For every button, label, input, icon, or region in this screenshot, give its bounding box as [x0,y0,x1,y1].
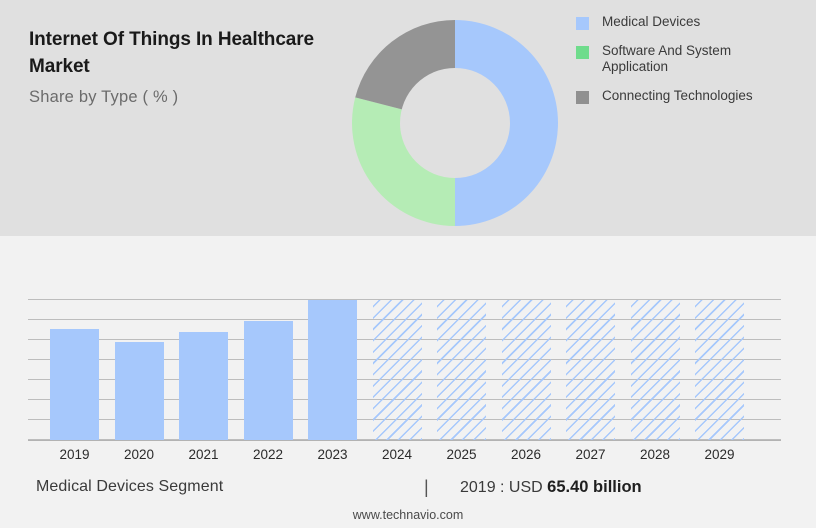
bar-2020[interactable] [115,342,164,440]
legend-item-medical-devices[interactable]: Medical Devices [576,14,806,30]
bar-2026[interactable] [502,300,551,440]
x-axis-label: 2027 [561,447,621,462]
legend-item-label: Connecting Technologies [602,88,753,104]
bar-2023[interactable] [308,300,357,440]
x-axis-label: 2022 [238,447,298,462]
legend-swatch-icon [576,46,589,59]
x-axis-label: 2023 [303,447,363,462]
footer-divider: | [424,477,429,498]
footer-segment-label: Medical Devices Segment [36,478,223,496]
bar-2029[interactable] [695,300,744,440]
header-panel: Internet Of Things In Healthcare Market … [0,0,816,236]
x-axis-label: 2021 [174,447,234,462]
page-subtitle: Share by Type ( % ) [29,88,178,107]
legend-item-software-and-system-application[interactable]: Software And System Application [576,43,806,75]
footer: Medical Devices Segment | 2019 : USD 65.… [0,472,816,528]
x-axis-label: 2020 [109,447,169,462]
page-title: Internet Of Things In Healthcare Market [29,26,369,80]
website-label: www.technavio.com [0,508,816,522]
footer-value-amount: 65.40 billion [547,478,641,496]
x-axis-label: 2028 [625,447,685,462]
x-axis-label: 2029 [690,447,750,462]
footer-value-prefix: 2019 : USD [460,479,543,496]
footer-value: 2019 : USD 65.40 billion [460,478,642,497]
bar-2025[interactable] [437,300,486,440]
bar-2022[interactable] [244,321,293,440]
x-axis-label: 2025 [432,447,492,462]
bar-chart: 2019202020212022202320242025202620272028… [0,236,816,468]
donut-chart-svg [352,20,558,226]
x-axis-label: 2026 [496,447,556,462]
bar-2021[interactable] [179,332,228,440]
x-axis-label: 2024 [367,447,427,462]
legend-item-label: Software And System Application [602,43,777,75]
donut-hole [400,68,510,178]
bar-2028[interactable] [631,300,680,440]
legend: Medical Devices Software And System Appl… [576,14,806,117]
bar-chart-plot: 2019202020212022202320242025202620272028… [28,299,781,441]
x-axis-label: 2019 [45,447,105,462]
legend-item-connecting-technologies[interactable]: Connecting Technologies [576,88,806,104]
x-axis-line [28,440,781,441]
bar-2027[interactable] [566,300,615,440]
infographic-page: Internet Of Things In Healthcare Market … [0,0,816,528]
bar-2019[interactable] [50,329,99,440]
legend-item-label: Medical Devices [602,14,700,30]
bar-2024[interactable] [373,300,422,440]
legend-swatch-icon [576,91,589,104]
legend-swatch-icon [576,17,589,30]
donut-chart [352,20,558,226]
